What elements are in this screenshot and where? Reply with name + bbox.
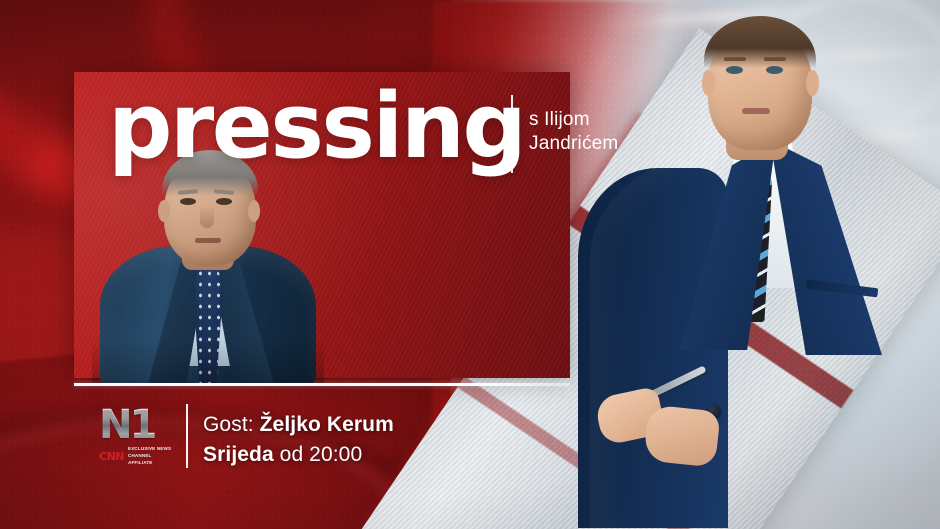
- footer-divider: [186, 404, 188, 468]
- promo-graphic: pressing s Ilijom Jandrićem N1 CNN EXCLU…: [0, 0, 940, 529]
- guest-hair: [162, 150, 258, 196]
- cnn-logo: CNN: [99, 450, 124, 463]
- host-eye-left: [726, 66, 743, 74]
- guest-mouth: [195, 238, 221, 243]
- footer-caption: Gost: Željko Kerum Srijeda od 20:00: [203, 410, 394, 470]
- n1-wordmark: N1: [99, 405, 173, 445]
- host-mouth: [742, 108, 770, 114]
- host-hair: [704, 16, 816, 68]
- guest-nose: [200, 206, 214, 228]
- guest-ear-left: [158, 200, 170, 222]
- guest-name: Željko Kerum: [260, 413, 394, 436]
- schedule-line: Srijeda od 20:00: [203, 440, 394, 470]
- guest-eye-right: [216, 198, 232, 205]
- panel-underline: [74, 383, 570, 386]
- guest-bottom-shadow: [92, 339, 324, 383]
- guest-prefix: Gost:: [203, 413, 260, 436]
- guest-ear-right: [248, 200, 260, 222]
- host-brow-right: [764, 57, 786, 61]
- guest-portrait: [92, 148, 324, 383]
- n1-logo: N1 CNN EXCLUSIVE NEWS CHANNEL AFFILIATE: [99, 405, 173, 465]
- guest-eye-left: [180, 198, 196, 205]
- cnn-affiliate-text: EXCLUSIVE NEWS CHANNEL AFFILIATE: [128, 446, 173, 467]
- host-figure: [584, 0, 940, 529]
- schedule-time: 20:00: [309, 443, 362, 466]
- host-ear-left: [702, 70, 715, 96]
- schedule-day: Srijeda: [203, 443, 274, 466]
- guest-line: Gost: Željko Kerum: [203, 410, 394, 440]
- host-eye-right: [766, 66, 783, 74]
- host-hand-right: [643, 404, 720, 467]
- schedule-time-prefix: od: [274, 443, 309, 466]
- host-ear-right: [806, 70, 819, 96]
- host-brow-left: [724, 57, 746, 61]
- n1-affiliate-block: CNN EXCLUSIVE NEWS CHANNEL AFFILIATE: [99, 446, 173, 467]
